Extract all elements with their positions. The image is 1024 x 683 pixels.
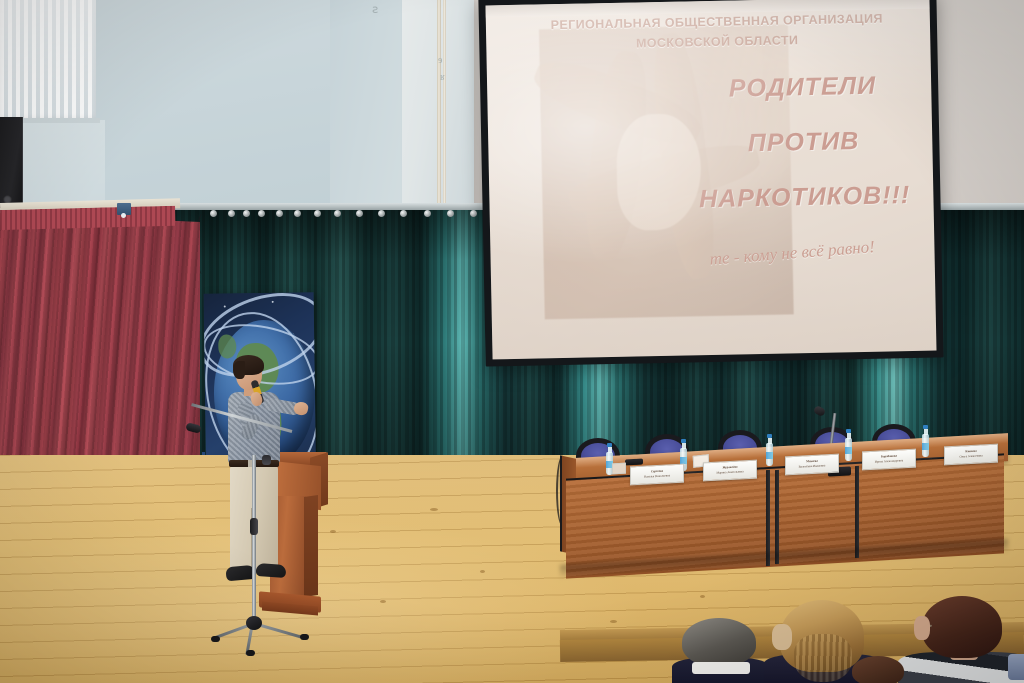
- presidium-namecard: Барабанова Ирина Александровна: [862, 449, 916, 471]
- audience-hair: [682, 618, 756, 666]
- stage-device-box: [117, 203, 131, 215]
- paper-sheet: [612, 463, 626, 475]
- tripod-foot: [211, 636, 220, 642]
- floor-knot: [480, 570, 485, 573]
- audience-member: [852, 656, 908, 683]
- curtain-grommet: [210, 210, 217, 217]
- floor-knot: [700, 595, 705, 598]
- curtain-grommet: [400, 210, 407, 217]
- tripod-hub: [246, 616, 262, 630]
- audience-face-edge: [914, 616, 930, 640]
- audience-hair: [852, 656, 904, 683]
- audience-face-edge: [772, 624, 792, 650]
- speaker-shoe-right: [256, 563, 287, 578]
- curtain-grommet: [314, 210, 321, 217]
- speaker-person: [218, 358, 308, 608]
- red-curtain-valance: [0, 204, 175, 230]
- slide-organisation-title: РЕГИОНАЛЬНАЯ ОБЩЕСТВЕННАЯ ОРГАНИЗАЦИЯ МО…: [530, 9, 904, 55]
- slide-background-photo: [539, 24, 793, 319]
- remote-control: [625, 459, 643, 466]
- bottle-cap: [846, 429, 851, 433]
- table-section-seam: [766, 470, 770, 566]
- window-blinds-sheen: [0, 0, 96, 122]
- presidium-namecard: Князева Ольга Алексеевна: [944, 444, 998, 466]
- curtain-grommet: [276, 210, 283, 217]
- speaker-hair-side: [233, 361, 245, 379]
- curtain-grommet: [470, 210, 477, 217]
- audience-hair-dark: [922, 596, 1002, 658]
- wall-panel: [330, 0, 404, 214]
- curtain-grommet: [243, 210, 250, 217]
- curtain-grommet: [228, 210, 235, 217]
- curtain-grommet: [424, 210, 431, 217]
- curtain-grommet: [378, 210, 385, 217]
- bottle-cap: [923, 425, 928, 429]
- presidium-namecard: Сергеева Наталья Николаевна: [630, 464, 684, 486]
- shirt-collar: [692, 662, 750, 674]
- wall-mark-3: ʁ: [440, 72, 445, 83]
- audience-member: [908, 596, 1024, 683]
- bottle-cap: [681, 439, 686, 443]
- bottle-cap: [767, 434, 772, 438]
- presidium-namecard: Михеева Валентина Ивановна: [785, 454, 839, 476]
- mic-stand-pole: [252, 455, 256, 630]
- audience-member: [676, 618, 766, 683]
- floor-knot: [610, 620, 617, 623]
- loudspeaker-cabinet: [0, 117, 23, 215]
- wall-conduit-pipe: [437, 0, 441, 212]
- curtain-grommet: [294, 210, 301, 217]
- curtain-grommet: [447, 210, 454, 217]
- floor-knot: [430, 508, 438, 511]
- auditorium-photo: ꙅ ɘ ʁ: [0, 0, 1024, 683]
- hair-strands: [794, 634, 852, 682]
- wall-mark-2: ɘ: [438, 55, 442, 66]
- water-bottle: [922, 434, 929, 457]
- screen-surface: РЕГИОНАЛЬНАЯ ОБЩЕСТВЕННАЯ ОРГАНИЗАЦИЯ МО…: [485, 0, 936, 359]
- slide-headline-1: РОДИТЕЛИ: [687, 71, 918, 105]
- floor-knot: [330, 530, 336, 533]
- water-bottle: [845, 438, 852, 461]
- audience-seatback: [1008, 654, 1024, 680]
- curtain-grommet: [258, 210, 265, 217]
- wall-conduit-pipe-2: [443, 0, 446, 212]
- floor-knot: [380, 600, 386, 603]
- curtain-grommet: [334, 210, 341, 217]
- wall-mark: ꙅ: [372, 2, 378, 17]
- curtain-grommet: [356, 210, 363, 217]
- slide-headline-3: НАРКОТИКОВ!!!: [689, 181, 920, 215]
- mic-stand-clutch: [250, 518, 258, 535]
- bottle-cap: [607, 443, 612, 447]
- mic-boom-joint: [262, 455, 271, 465]
- tripod-foot: [246, 650, 255, 656]
- water-bottle: [766, 443, 773, 466]
- table-section-seam: [855, 466, 859, 558]
- table-section-seam: [775, 470, 779, 564]
- tripod-foot: [300, 634, 309, 640]
- slide-headline-2: ПРОТИВ: [688, 126, 919, 160]
- projection-screen: РЕГИОНАЛЬНАЯ ОБЩЕСТВЕННАЯ ОРГАНИЗАЦИЯ МО…: [478, 0, 943, 367]
- presidium-namecard: Журавлёва Марина Анатольевна: [703, 460, 757, 482]
